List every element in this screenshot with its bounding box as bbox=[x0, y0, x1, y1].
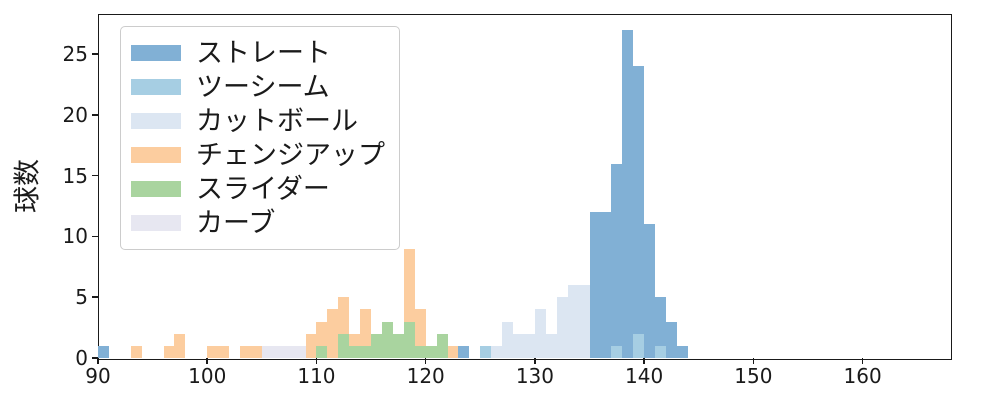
histogram-bar bbox=[338, 334, 349, 358]
histogram-bar bbox=[666, 322, 677, 358]
histogram-bar bbox=[371, 334, 382, 358]
histogram-bar bbox=[448, 346, 459, 358]
legend-label: カットボール bbox=[196, 108, 358, 135]
histogram-bar bbox=[382, 322, 393, 358]
y-tick-label: 20 bbox=[48, 105, 88, 125]
histogram-bar bbox=[295, 346, 306, 358]
x-tick-label: 130 bbox=[516, 366, 554, 386]
legend-item-curve[interactable]: カーブ bbox=[131, 206, 385, 240]
legend: ストレートツーシームカットボールチェンジアップスライダーカーブ bbox=[120, 26, 400, 250]
x-tick-label: 160 bbox=[844, 366, 882, 386]
histogram-bar bbox=[426, 346, 437, 358]
legend-item-slider[interactable]: スライダー bbox=[131, 172, 385, 206]
histogram-bar bbox=[480, 346, 491, 358]
legend-label: ツーシーム bbox=[196, 74, 330, 101]
legend-swatch-straight bbox=[131, 45, 181, 61]
legend-item-cut_ball[interactable]: カットボール bbox=[131, 104, 385, 138]
histogram-bar bbox=[98, 346, 109, 358]
histogram-bar bbox=[404, 322, 415, 358]
histogram-bar bbox=[393, 334, 404, 358]
histogram-bar bbox=[579, 285, 590, 358]
histogram-bar bbox=[568, 285, 579, 358]
histogram-bar bbox=[360, 346, 371, 358]
x-tick-label: 90 bbox=[85, 366, 110, 386]
histogram-bar bbox=[535, 309, 546, 358]
histogram-bar bbox=[491, 346, 502, 358]
x-tick-label: 100 bbox=[188, 366, 226, 386]
histogram-bar bbox=[622, 30, 633, 358]
histogram-figure: 90100110120130140150160 0510152025 球数 スト… bbox=[0, 0, 1000, 400]
histogram-bar bbox=[273, 346, 284, 358]
histogram-bar bbox=[437, 334, 448, 358]
legend-label: カーブ bbox=[196, 210, 275, 237]
y-tick-label: 15 bbox=[48, 166, 88, 186]
legend-swatch-two_seam bbox=[131, 79, 181, 95]
histogram-bar bbox=[218, 346, 229, 358]
histogram-bar bbox=[655, 346, 666, 358]
histogram-bar bbox=[513, 334, 524, 358]
y-tick-label: 0 bbox=[48, 348, 88, 368]
histogram-bar bbox=[164, 346, 175, 358]
legend-item-straight[interactable]: ストレート bbox=[131, 36, 385, 70]
legend-item-two_seam[interactable]: ツーシーム bbox=[131, 70, 385, 104]
histogram-bar bbox=[677, 346, 688, 358]
y-tick-mark bbox=[92, 53, 98, 55]
x-tick-label: 140 bbox=[625, 366, 663, 386]
legend-label: チェンジアップ bbox=[196, 142, 385, 169]
legend-swatch-curve bbox=[131, 215, 181, 231]
histogram-bar bbox=[349, 346, 360, 358]
legend-swatch-change_up bbox=[131, 147, 181, 163]
legend-swatch-cut_ball bbox=[131, 113, 181, 129]
histogram-bar bbox=[316, 346, 327, 358]
histogram-bar bbox=[207, 346, 218, 358]
legend-label: スライダー bbox=[196, 176, 330, 203]
histogram-bar bbox=[546, 334, 557, 358]
histogram-bar bbox=[262, 346, 273, 358]
x-tick-label: 120 bbox=[407, 366, 445, 386]
histogram-bar bbox=[633, 334, 644, 358]
histogram-bar bbox=[251, 346, 262, 358]
histogram-bar bbox=[240, 346, 251, 358]
y-tick-label: 25 bbox=[48, 44, 88, 64]
histogram-bar bbox=[306, 334, 317, 358]
histogram-bar bbox=[174, 334, 185, 358]
y-tick-mark bbox=[92, 114, 98, 116]
histogram-bar bbox=[600, 212, 611, 358]
histogram-bar bbox=[415, 346, 426, 358]
histogram-bar bbox=[524, 334, 535, 358]
histogram-bar bbox=[590, 212, 601, 358]
y-tick-mark bbox=[92, 236, 98, 238]
histogram-bar bbox=[633, 66, 644, 358]
histogram-bar bbox=[644, 224, 655, 358]
histogram-bar bbox=[131, 346, 142, 358]
y-tick-mark bbox=[92, 296, 98, 298]
legend-label: ストレート bbox=[196, 40, 331, 67]
histogram-bar bbox=[611, 346, 622, 358]
histogram-bar bbox=[611, 164, 622, 358]
histogram-bar bbox=[502, 322, 513, 358]
legend-swatch-slider bbox=[131, 181, 181, 197]
y-tick-mark bbox=[92, 357, 98, 359]
x-tick-label: 150 bbox=[734, 366, 772, 386]
y-tick-mark bbox=[92, 175, 98, 177]
histogram-bar bbox=[327, 309, 338, 358]
legend-item-change_up[interactable]: チェンジアップ bbox=[131, 138, 385, 172]
histogram-bar bbox=[458, 346, 469, 358]
histogram-bar bbox=[284, 346, 295, 358]
y-tick-label: 5 bbox=[48, 287, 88, 307]
histogram-bar bbox=[557, 297, 568, 358]
y-axis-label: 球数 bbox=[6, 159, 45, 213]
x-tick-label: 110 bbox=[297, 366, 335, 386]
y-tick-label: 10 bbox=[48, 226, 88, 246]
